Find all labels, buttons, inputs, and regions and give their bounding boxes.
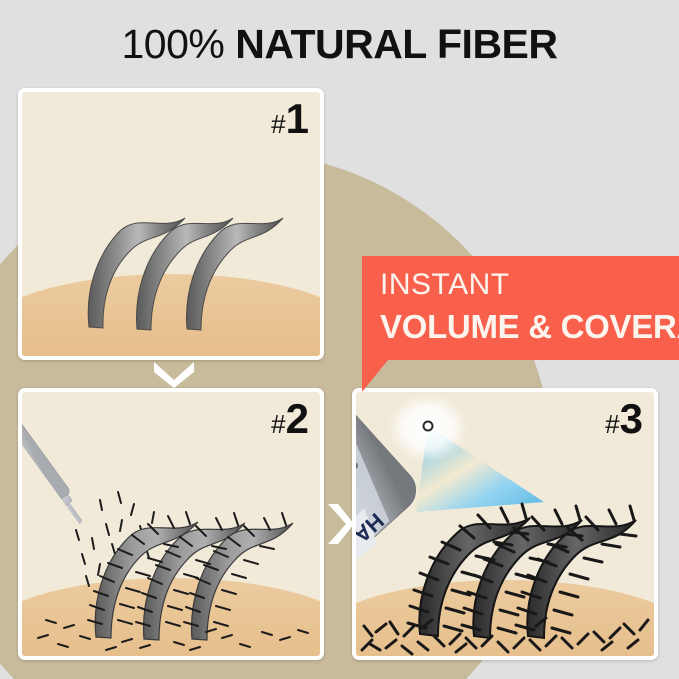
- panel-3-number: #3: [605, 398, 642, 440]
- step-panel-2: SUPER MI: [18, 388, 324, 660]
- scalp-fiber-carpet: [362, 618, 648, 654]
- hash-symbol: #: [271, 409, 285, 439]
- hash-symbol: #: [605, 409, 619, 439]
- promo-banner-text: INSTANT VOLUME & COVERAGE: [380, 270, 679, 343]
- step-number: 3: [620, 395, 642, 442]
- step-number: 1: [286, 95, 308, 142]
- promo-line-2: VOLUME & COVERAGE: [380, 310, 679, 343]
- hash-symbol: #: [271, 109, 285, 139]
- page-title: 100% NATURAL FIBER: [0, 21, 679, 67]
- promo-banner: INSTANT VOLUME & COVERAGE: [362, 256, 679, 360]
- step-panel-1: #1: [18, 88, 324, 360]
- panel-2-number: #2: [271, 398, 308, 440]
- chevron-down-icon: [150, 358, 198, 388]
- promo-line-1: INSTANT: [380, 270, 679, 300]
- panel-1-number: #1: [271, 98, 308, 140]
- chevron-right-icon: [324, 500, 354, 548]
- title-prefix: 100%: [121, 21, 224, 67]
- infographic-canvas: 100% NATURAL FIBER: [0, 0, 679, 679]
- title-main: NATURAL FIBER: [235, 21, 557, 67]
- step-panel-3: SUPE HA: [352, 388, 658, 660]
- step-number: 2: [286, 395, 308, 442]
